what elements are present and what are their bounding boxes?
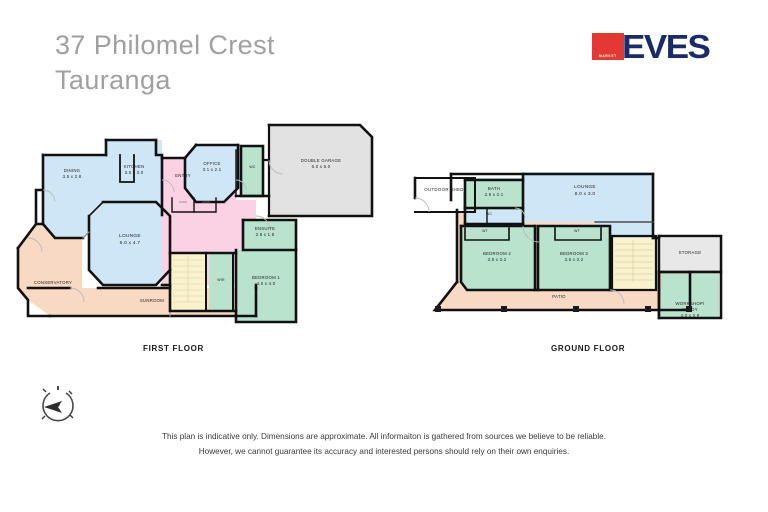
ground-floor-plan: OUTDOOR SHED BATH2.9 x 2.1 WC WT WT LOUN… bbox=[405, 150, 765, 345]
garage-fill bbox=[269, 125, 372, 216]
disclaimer-line-1: This plan is indicative only. Dimensions… bbox=[84, 430, 684, 444]
disclaimer: This plan is indicative only. Dimensions… bbox=[84, 430, 684, 458]
wir-fill bbox=[209, 253, 233, 311]
lounge-fill bbox=[89, 202, 170, 285]
first-floor-label: FIRST FLOOR bbox=[143, 344, 204, 353]
eves-logo: MARKET EVES bbox=[592, 32, 727, 62]
compass-needle bbox=[44, 401, 62, 413]
storage-fill bbox=[661, 238, 719, 272]
office-fill bbox=[185, 145, 238, 202]
bedroom1-fill bbox=[236, 250, 296, 322]
page-title: 37 Philomel Crest Tauranga bbox=[55, 28, 475, 98]
logo-wordmark: EVES bbox=[622, 30, 709, 63]
logo-mark-text: MARKET bbox=[592, 54, 624, 58]
wc-fill bbox=[241, 146, 263, 196]
floorplan-page: 37 Philomel Crest Tauranga MARKET EVES bbox=[0, 0, 768, 512]
compass-rose bbox=[36, 385, 80, 425]
bedroom2-fill bbox=[461, 226, 535, 290]
logo-red-mark: MARKET bbox=[592, 33, 624, 60]
bedroom3-fill bbox=[538, 226, 610, 290]
first-floor-plan: DINING3.5 x 2.8 KITCHEN3.5 x 3.0 ENTRY O… bbox=[10, 120, 410, 345]
stairs-ground-fill bbox=[612, 238, 656, 290]
ground-floor-label: GROUND FLOOR bbox=[551, 344, 625, 353]
disclaimer-line-2: However, we cannot guarantee its accurac… bbox=[84, 445, 684, 459]
ensuite-fill bbox=[243, 220, 296, 250]
